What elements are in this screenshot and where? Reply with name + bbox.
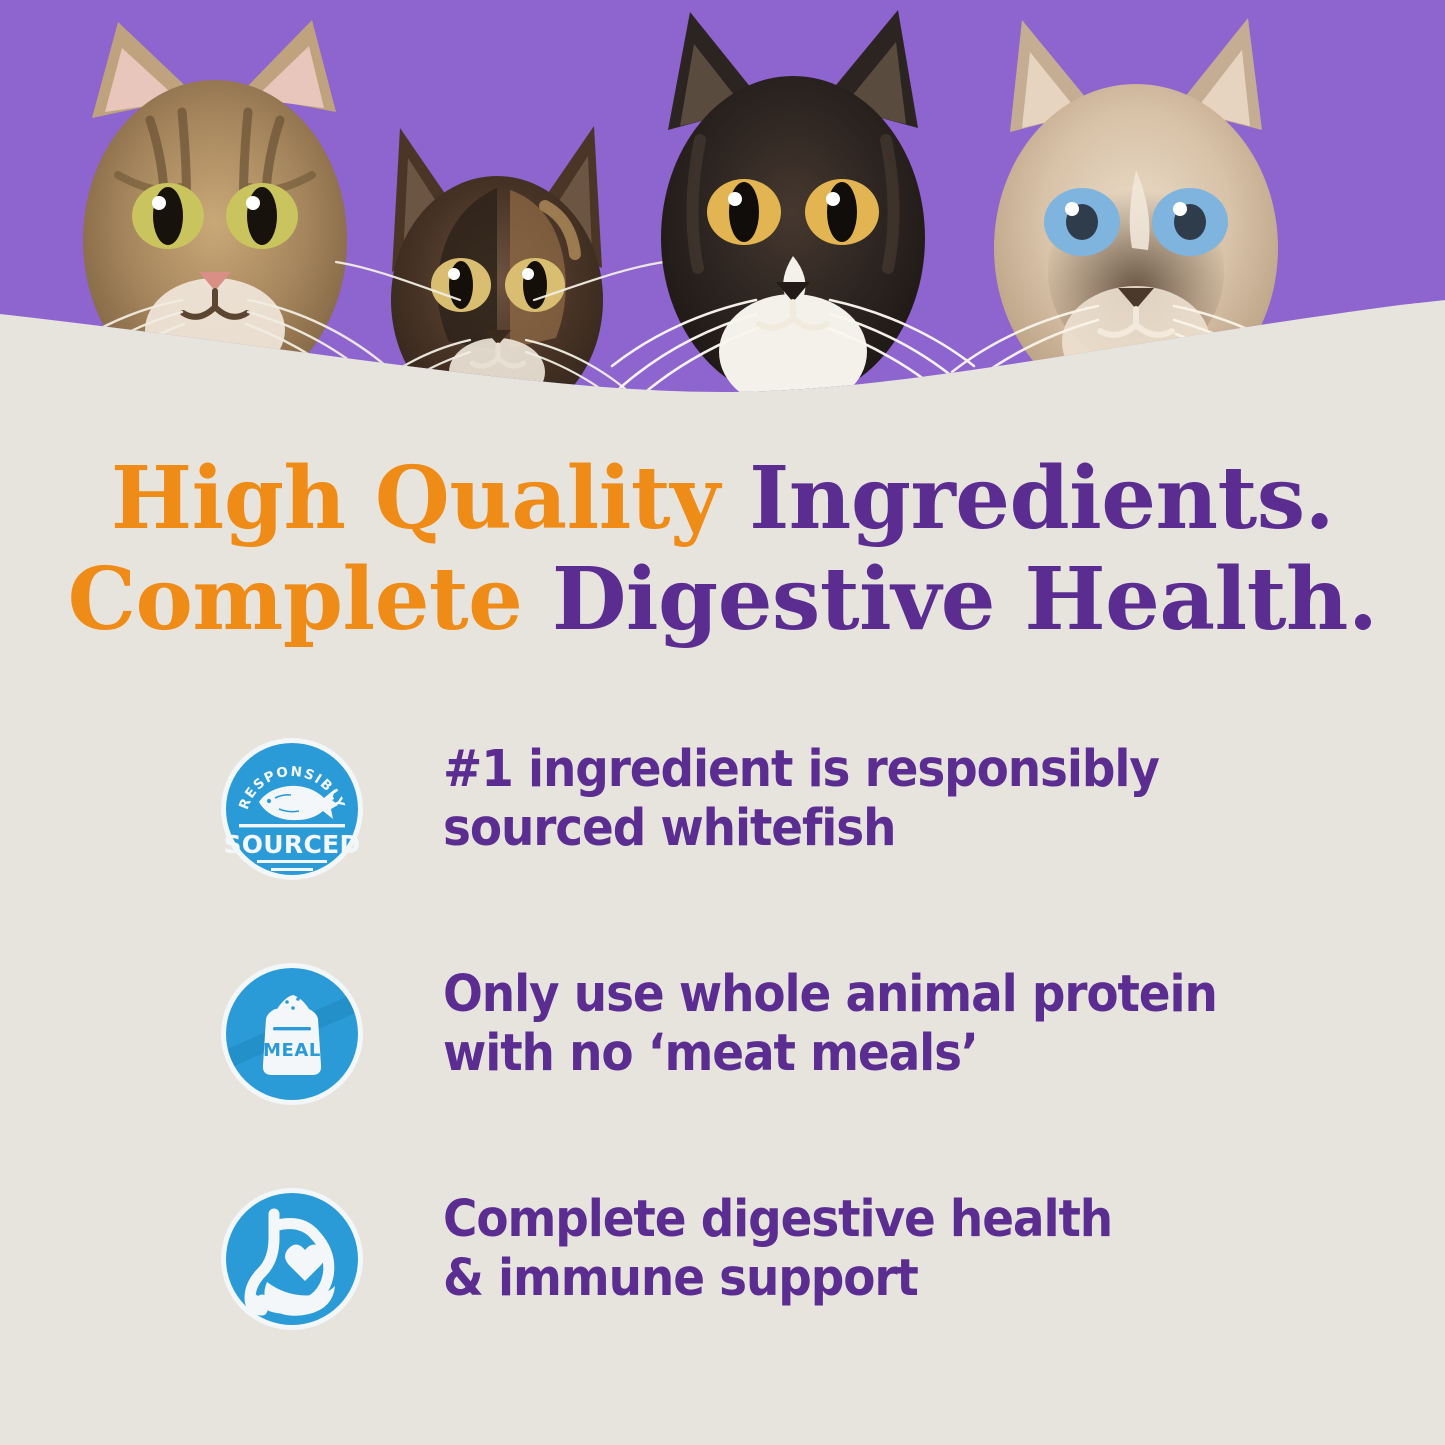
headline-line-2-orange: Complete [68, 549, 552, 650]
no-meat-meal-bag-badge: MEAL [219, 961, 365, 1107]
badge-main-text: SOURCED [223, 830, 360, 859]
responsibly-sourced-fish-icon: RESPONSIBLY SOURCED [219, 736, 365, 882]
feature-line-1: Complete digestive health [443, 1190, 1112, 1249]
feature-line-2: sourced whitefish [443, 799, 1159, 858]
feature-line-2: & immune support [443, 1249, 1112, 1308]
feature-line-2: with no ‘meat meals’ [443, 1024, 1217, 1083]
meal-bag-icon: MEAL [219, 961, 365, 1107]
headline-line-2: Complete Digestive Health. [0, 549, 1445, 650]
stomach-heart-digestive-health-badge [219, 1186, 365, 1332]
cat-photo-banner [0, 0, 1445, 420]
badge-main-text: MEAL [263, 1040, 321, 1061]
feature-line-1: Only use whole animal protein [443, 965, 1217, 1024]
headline-line-1-purple: Ingredients. [749, 448, 1334, 549]
product-feature-poster: High Quality Ingredients. Complete Diges… [0, 0, 1445, 1445]
stomach-heart-icon [219, 1186, 365, 1332]
headline-line-1: High Quality Ingredients. [0, 448, 1445, 549]
feature-text-no-meat-meals: Only use whole animal protein with no ‘m… [443, 965, 1217, 1083]
feature-text-digestive-health: Complete digestive health & immune suppo… [443, 1190, 1112, 1308]
feature-list: RESPONSIBLY SOURCED #1 ingredi [0, 712, 1445, 1387]
feature-item-no-meat-meals: MEAL Only use whole animal protein with … [0, 937, 1445, 1162]
headline-line-2-purple: Digestive Health. [552, 549, 1378, 650]
page-title: High Quality Ingredients. Complete Diges… [0, 448, 1445, 651]
feature-line-1: #1 ingredient is responsibly [443, 740, 1159, 799]
feature-item-digestive-health: Complete digestive health & immune suppo… [0, 1162, 1445, 1387]
feature-text-responsibly-sourced: #1 ingredient is responsibly sourced whi… [443, 740, 1159, 858]
feature-item-responsibly-sourced: RESPONSIBLY SOURCED #1 ingredi [0, 712, 1445, 937]
cat-banner-illustration [0, 0, 1445, 420]
responsibly-sourced-fish-badge: RESPONSIBLY SOURCED [219, 736, 365, 882]
headline-line-1-orange: High Quality [111, 448, 749, 549]
